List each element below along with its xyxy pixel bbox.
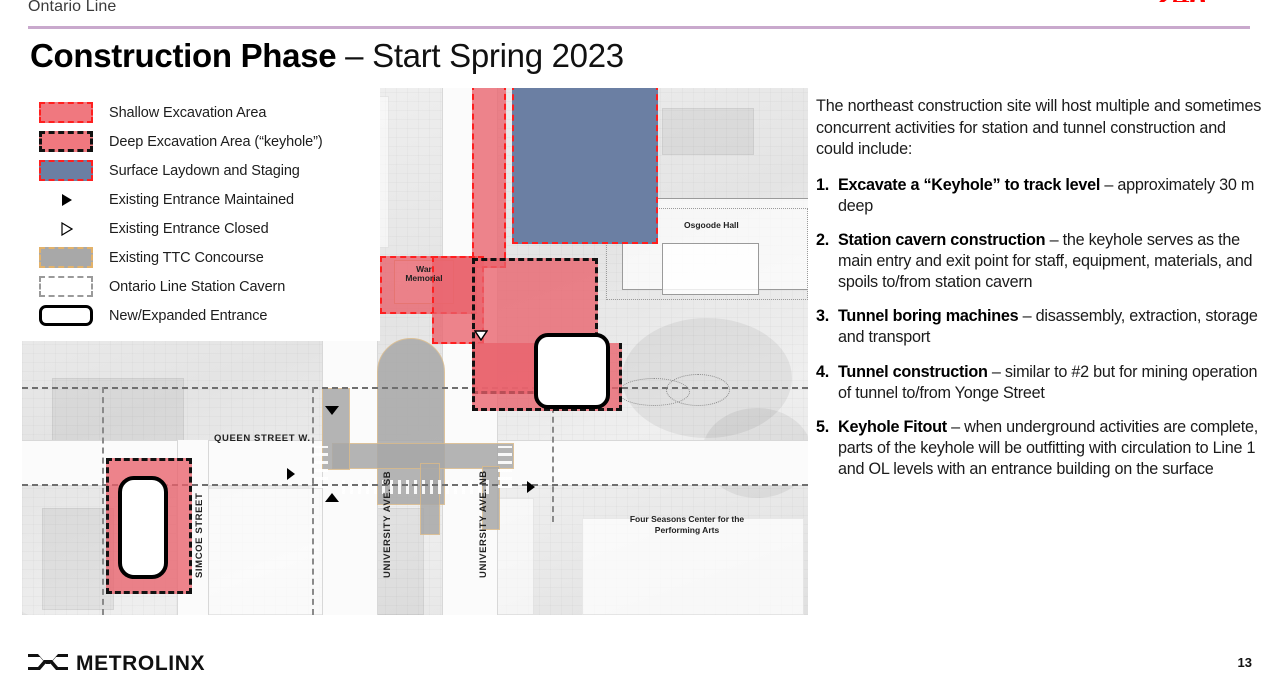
map-station-cavern-edge <box>312 387 314 615</box>
activity-text: Tunnel boring machines – disassembly, ex… <box>838 306 1264 348</box>
intro-paragraph: The northeast construction site will hos… <box>816 96 1264 161</box>
activity-text: Excavate a “Keyhole” to track level – ap… <box>838 175 1264 217</box>
new-entrance-swatch <box>39 305 93 326</box>
map-surface-laydown-staging <box>512 88 658 244</box>
map-label-queen-street: QUEEN STREET W. <box>214 433 311 444</box>
legend-label: Surface Laydown and Staging <box>109 163 300 179</box>
map-label-university-sb: UNIVERSITY AVE. SB <box>382 471 393 578</box>
legend-label: Existing Entrance Maintained <box>109 192 294 208</box>
activity-item-4: 4. Tunnel construction – similar to #2 b… <box>816 362 1264 404</box>
legend-item-station-cavern: Ontario Line Station Cavern <box>22 272 380 301</box>
activity-title: Station cavern construction <box>838 231 1045 249</box>
map-label-war-memorial: WarMemorial <box>402 265 446 283</box>
legend-item-surface-laydown: Surface Laydown and Staging <box>22 156 380 185</box>
activity-number: 1. <box>816 175 838 217</box>
activity-text: Tunnel construction – similar to #2 but … <box>838 362 1264 404</box>
construction-phase-map[interactable]: Osgoode Hall WarMemorial QUEEN STREET W.… <box>22 88 808 615</box>
activity-item-3: 3. Tunnel boring machines – disassembly,… <box>816 306 1264 348</box>
map-legend: Shallow Excavation Area Deep Excavation … <box>22 88 380 341</box>
entrance-closed-icon <box>39 218 93 239</box>
activity-number: 3. <box>816 306 838 348</box>
corner-number: 248 <box>1156 0 1206 2</box>
legend-item-ttc-concourse: Existing TTC Concourse <box>22 243 380 272</box>
entrance-maintained-marker-west <box>325 406 339 415</box>
entrance-maintained-marker-queen-east <box>527 481 535 493</box>
legend-label: New/Expanded Entrance <box>109 308 267 324</box>
map-cavern-outline <box>666 374 730 406</box>
activity-number: 4. <box>816 362 838 404</box>
map-crosswalk <box>342 480 492 494</box>
map-label-simcoe-street: SIMCOE STREET <box>194 493 205 578</box>
header-divider <box>28 26 1250 29</box>
legend-label: Existing TTC Concourse <box>109 250 264 266</box>
entrance-maintained-marker-queen-west <box>287 468 295 480</box>
map-station-cavern-edge <box>102 387 104 615</box>
station-cavern-swatch <box>39 276 93 297</box>
legend-label: Ontario Line Station Cavern <box>109 279 285 295</box>
map-crosswalk <box>314 446 328 488</box>
map-label-four-seasons: Four Seasons Center for thePerforming Ar… <box>622 514 752 535</box>
page-title-bold: Construction Phase <box>30 37 336 74</box>
description-panel: The northeast construction site will hos… <box>816 96 1264 493</box>
entrance-closed-marker-north <box>474 330 488 341</box>
activity-number: 2. <box>816 230 838 293</box>
legend-item-entrance-maintained: Existing Entrance Maintained <box>22 185 380 214</box>
page-number: 13 <box>1238 655 1252 670</box>
legend-item-deep-excavation: Deep Excavation Area (“keyhole”) <box>22 127 380 156</box>
activity-item-5: 5. Keyhole Fitout – when underground act… <box>816 417 1264 480</box>
metrolinx-mark-icon <box>28 653 68 675</box>
map-label-university-nb: UNIVERSITY AVE. NB <box>478 470 489 578</box>
map-building <box>662 108 754 155</box>
page-eyebrow: Ontario Line <box>28 0 116 16</box>
activity-item-1: 1. Excavate a “Keyhole” to track level –… <box>816 175 1264 217</box>
activity-title: Excavate a “Keyhole” to track level <box>838 176 1100 194</box>
entrance-maintained-marker-south <box>325 493 339 502</box>
surface-laydown-swatch <box>39 160 93 181</box>
activity-item-2: 2. Station cavern construction – the key… <box>816 230 1264 293</box>
map-crosswalk <box>498 446 512 488</box>
ttc-concourse-swatch <box>39 247 93 268</box>
map-new-expanded-entrance-north[interactable] <box>534 333 610 409</box>
page-title-sub: – Start Spring 2023 <box>336 37 624 74</box>
page-title: Construction Phase – Start Spring 2023 <box>30 37 624 75</box>
metrolinx-logo: METROLINX <box>28 652 205 676</box>
entrance-maintained-icon <box>39 189 93 210</box>
legend-item-new-entrance: New/Expanded Entrance <box>22 301 380 330</box>
map-shallow-excavation-north-strip <box>472 88 506 268</box>
legend-label: Deep Excavation Area (“keyhole”) <box>109 134 323 150</box>
activity-title: Tunnel construction <box>838 363 988 381</box>
map-building <box>202 488 334 615</box>
legend-label: Existing Entrance Closed <box>109 221 269 237</box>
activity-title: Tunnel boring machines <box>838 307 1018 325</box>
activity-list: 1. Excavate a “Keyhole” to track level –… <box>816 175 1264 480</box>
metrolinx-wordmark: METROLINX <box>76 652 205 676</box>
activity-title: Keyhole Fitout <box>838 418 947 436</box>
activity-text: Keyhole Fitout – when underground activi… <box>838 417 1264 480</box>
deep-excavation-swatch <box>39 131 93 152</box>
map-ttc-concourse-arm <box>420 463 440 535</box>
activity-number: 5. <box>816 417 838 480</box>
activity-text: Station cavern construction – the keyhol… <box>838 230 1264 293</box>
legend-label: Shallow Excavation Area <box>109 105 266 121</box>
map-label-osgoode-hall: Osgoode Hall <box>684 220 739 230</box>
legend-item-entrance-closed: Existing Entrance Closed <box>22 214 380 243</box>
map-new-expanded-entrance-simcoe[interactable] <box>118 476 168 579</box>
legend-item-shallow-excavation: Shallow Excavation Area <box>22 98 380 127</box>
shallow-excavation-swatch <box>39 102 93 123</box>
